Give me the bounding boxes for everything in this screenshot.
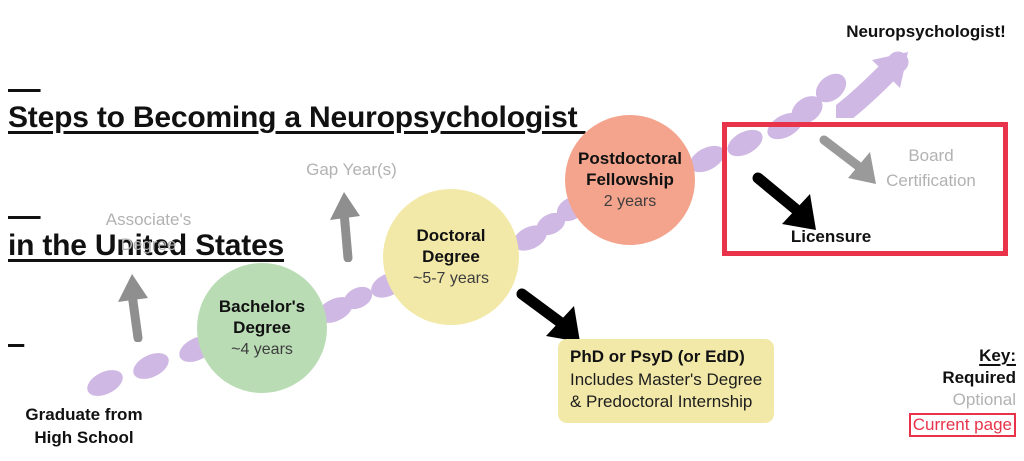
- callout-line-1: PhD or PsyD (or EdD): [570, 346, 762, 369]
- phd-psyd-callout: PhD or PsyD (or EdD) Includes Master's D…: [558, 339, 774, 423]
- grey-arrow-to-associates-icon: [112, 272, 156, 342]
- infographic-canvas: Steps to Becoming a Neuropsychologist in…: [0, 0, 1024, 461]
- optional-label-associates-degree: Associate's Degree: [86, 208, 211, 257]
- start-label-graduate-high-school: Graduate from High School: [4, 403, 164, 450]
- grey-arrow-to-gap-year-icon: [324, 190, 368, 262]
- step-duration: ~4 years: [231, 341, 293, 359]
- page-title-line-1: Steps to Becoming a Neuropsychologist: [8, 97, 586, 140]
- path-dash: [129, 348, 173, 384]
- step-title: Doctoral Degree: [417, 226, 486, 267]
- path-dash: [83, 365, 127, 401]
- optional-label-gap-year: Gap Year(s): [294, 158, 409, 183]
- key-legend: Key: Required Optional Current page: [876, 346, 1016, 437]
- callout-line-2: Includes Master's Degree: [570, 369, 762, 392]
- step-title: Bachelor's Degree: [219, 297, 305, 338]
- path-arrow-icon: [836, 46, 920, 118]
- step-duration: 2 years: [604, 193, 656, 211]
- callout-line-3: & Predoctoral Internship: [570, 391, 762, 414]
- step-circle-doctoral[interactable]: Doctoral Degree ~5-7 years: [383, 189, 519, 325]
- step-title: Postdoctoral Fellowship: [578, 149, 682, 190]
- step-circle-postdoctoral[interactable]: Postdoctoral Fellowship 2 years: [565, 115, 695, 245]
- key-title: Key:: [876, 346, 1016, 366]
- key-item-optional: Optional: [876, 390, 1016, 410]
- key-item-current-page: Current page: [909, 413, 1016, 437]
- key-item-required: Required: [876, 368, 1016, 388]
- optional-label-board-certification: Board Certification: [856, 144, 1006, 193]
- step-circle-bachelors[interactable]: Bachelor's Degree ~4 years: [197, 263, 327, 393]
- step-duration: ~5-7 years: [413, 270, 489, 288]
- current-page-label-licensure: Licensure: [766, 225, 896, 248]
- end-label-neuropsychologist: Neuropsychologist!: [828, 20, 1024, 43]
